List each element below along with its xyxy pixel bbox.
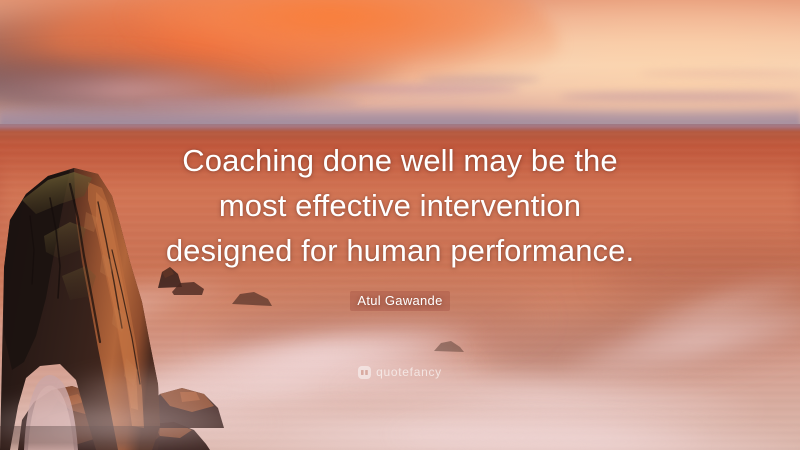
quote-poster: Coaching done well may be the most effec… [0, 0, 800, 450]
quote-line-1: Coaching done well may be the [0, 138, 800, 183]
cloud-wisp [420, 76, 540, 83]
watermark-text: quotefancy [376, 365, 442, 379]
quote-text: Coaching done well may be the most effec… [0, 138, 800, 273]
cloud-wisp [330, 84, 520, 94]
quote-line-3: designed for human performance. [0, 228, 800, 273]
cloud-wisp [560, 92, 800, 101]
cloud-wisp [640, 70, 800, 77]
watermark: quotefancy [0, 365, 800, 379]
author-attribution: Atul Gawande [0, 291, 800, 311]
author-name: Atul Gawande [350, 291, 449, 311]
small-rock-distant [432, 338, 468, 354]
quote-line-2: most effective intervention [0, 183, 800, 228]
quote-badge-icon [358, 366, 371, 379]
